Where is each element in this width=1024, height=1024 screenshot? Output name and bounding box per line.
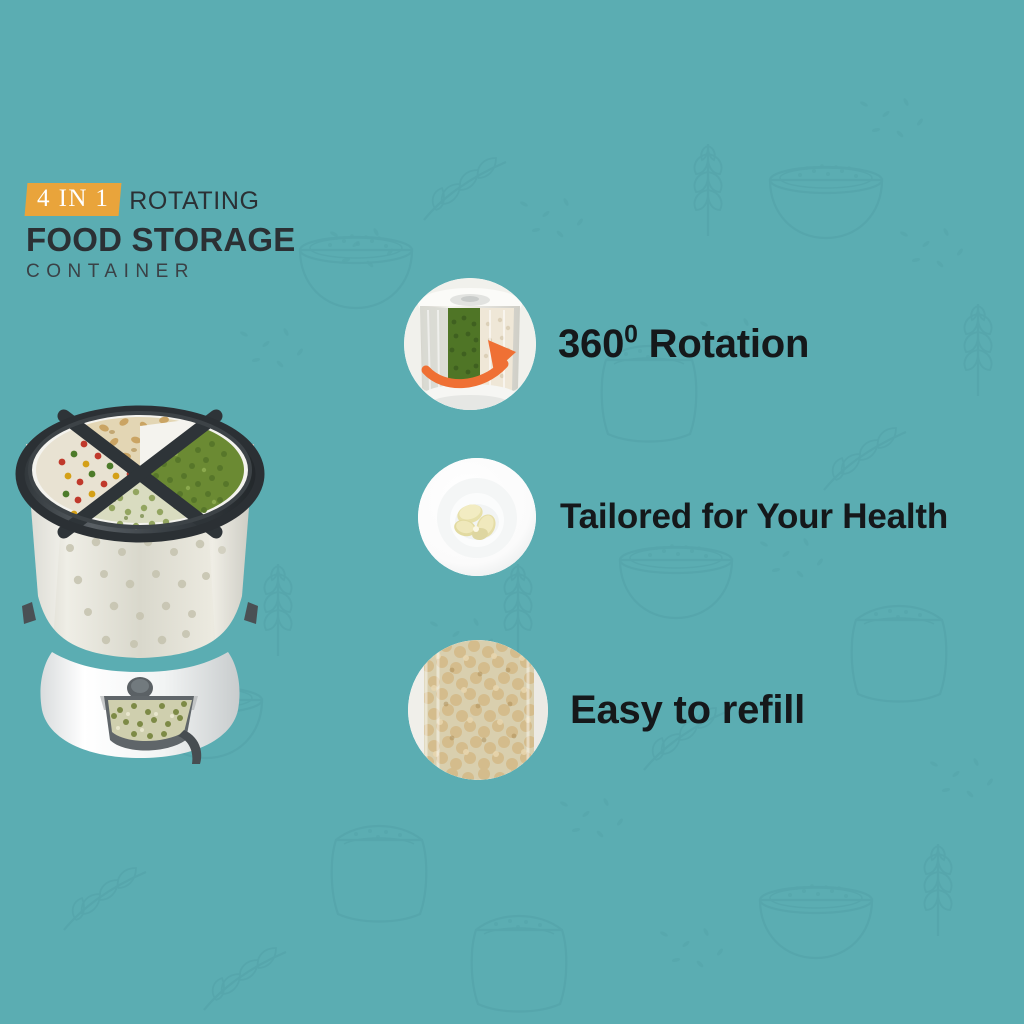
- headline-top-line: 4 IN 1 ROTATING: [26, 182, 356, 216]
- feature-row-refill: Easy to refill: [408, 640, 805, 780]
- rotation-word: Rotation: [638, 322, 810, 366]
- rotation-number: 360: [558, 322, 624, 366]
- title-subline: CONTAINER: [26, 261, 356, 283]
- rotation-thumbnail: [404, 278, 536, 410]
- feature-row-health: Tailored for Your Health: [418, 458, 948, 576]
- feature-label-refill: Easy to refill: [570, 688, 805, 733]
- degree-symbol: 0: [624, 321, 638, 348]
- page-title: FOOD STORAGE: [26, 222, 356, 258]
- health-thumbnail: [418, 458, 536, 576]
- four-in-one-badge: 4 IN 1: [25, 183, 122, 216]
- infographic-canvas: 4 IN 1 ROTATING FOOD STORAGE CONTAINER: [0, 0, 1024, 1024]
- feature-label-rotation: 3600 Rotation: [558, 322, 809, 367]
- feature-label-health: Tailored for Your Health: [560, 497, 948, 537]
- product-image: [8, 366, 308, 766]
- feature-row-rotation: 3600 Rotation: [404, 278, 809, 410]
- rotating-word: ROTATING: [129, 187, 259, 216]
- four-in-one-badge-label: 4 IN 1: [37, 185, 109, 213]
- title-block: 4 IN 1 ROTATING FOOD STORAGE CONTAINER: [26, 182, 356, 283]
- refill-thumbnail: [408, 640, 548, 780]
